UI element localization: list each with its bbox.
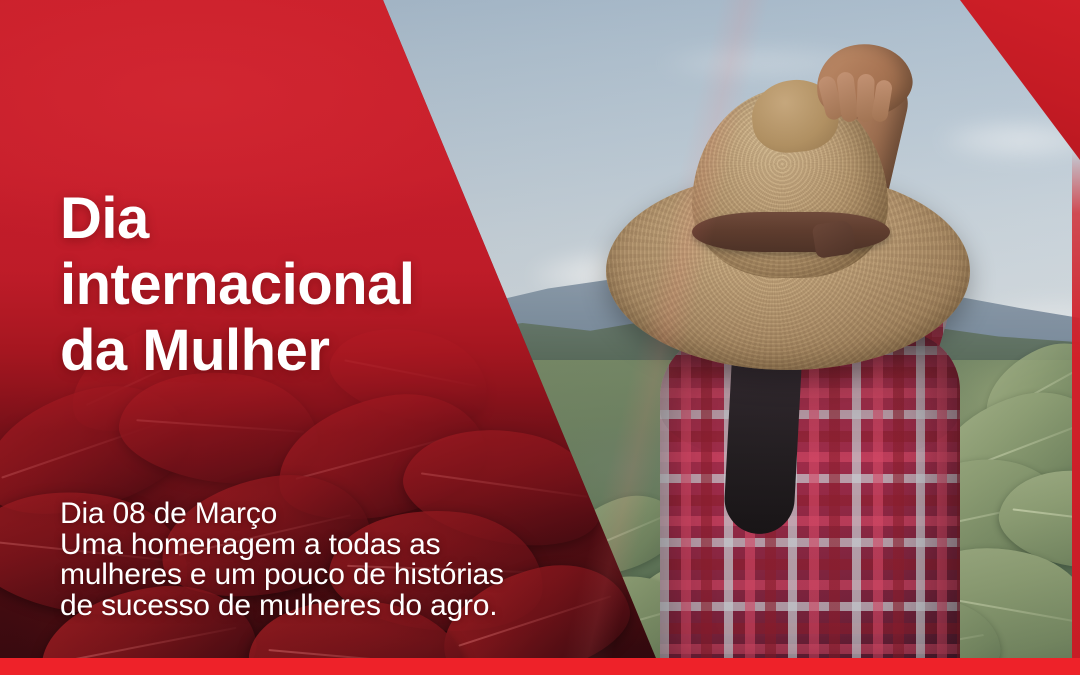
hat-band xyxy=(692,212,890,252)
subtitle-text: Dia 08 de Março Uma homenagem a todas as… xyxy=(60,499,580,621)
womens-day-banner: Dia internacional da Mulher Dia 08 de Ma… xyxy=(0,0,1080,675)
bottom-red-bar xyxy=(0,658,1080,675)
woman-figure xyxy=(600,36,1080,675)
right-edge-red-sliver xyxy=(1072,150,1080,675)
hat-band-knot xyxy=(812,219,857,259)
page-title: Dia internacional da Mulher xyxy=(60,186,580,384)
